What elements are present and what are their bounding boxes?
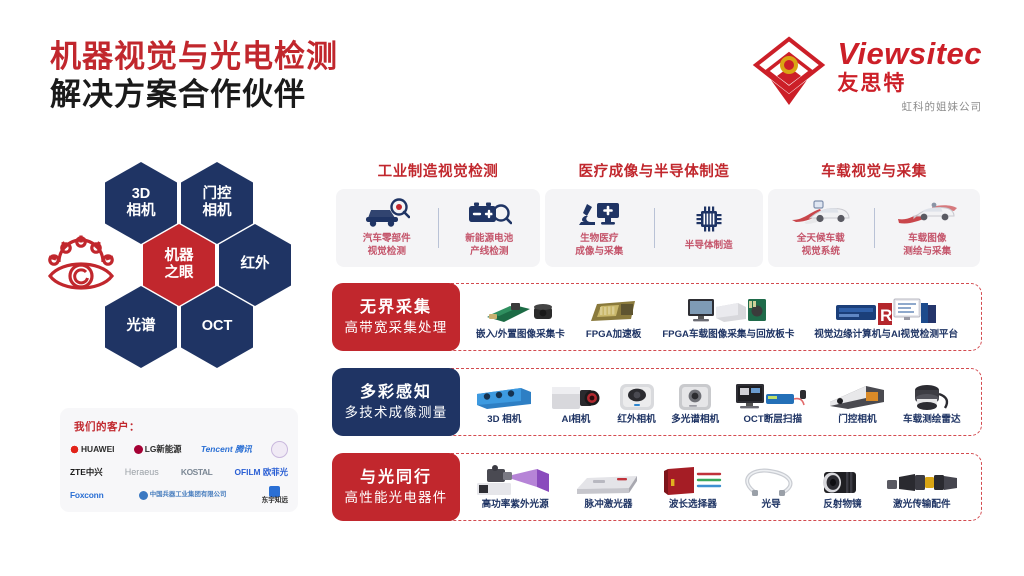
customer-logo-kostal: KOSTAL: [181, 468, 212, 476]
product-multispectral-camera[interactable]: 多光谱相机: [671, 379, 719, 425]
customer-label: OFILM 欧菲光: [234, 468, 288, 476]
customer-logo-ofilm: OFILM 欧菲光: [234, 468, 288, 476]
fpga-accelerator-board-image: [585, 294, 643, 327]
ai-camera-image: [550, 379, 602, 412]
category-automotive-card: 全天候车载 视觉系统 车载图像: [768, 189, 980, 267]
row-tag-subtitle: 高带宽采集处理: [345, 319, 448, 337]
row-tag-title: 多彩感知: [360, 383, 432, 403]
uv-light-source-image: [475, 464, 555, 497]
lg-mark-icon: [134, 445, 143, 454]
row-items: 高功率紫外光源 脉冲激光器: [466, 453, 968, 521]
customer-logo-huawei: HUAWEI: [70, 445, 115, 454]
product-fpga-accelerator[interactable]: FPGA加速板: [585, 294, 643, 340]
product-frame-grabber[interactable]: 嵌入/外置图像采集卡: [476, 294, 565, 340]
product-pulsed-laser[interactable]: 脉冲激光器: [573, 464, 643, 510]
product-ai-camera[interactable]: AI相机: [550, 379, 602, 425]
reflective-objective-image: [818, 464, 866, 497]
customer-logo-seal-icon: [271, 441, 288, 458]
hex-oct-label: OCT: [202, 318, 233, 335]
row-tag-subtitle: 多技术成像测量: [345, 404, 448, 422]
edge-ai-platform-image: R: [834, 294, 938, 327]
customer-label: Tencent 腾讯: [201, 445, 252, 453]
customer-logo-norinco: 中国兵器工业集团有限公司: [139, 491, 227, 500]
car-mapping-icon: [896, 197, 958, 228]
slide-root: 机器视觉与光电检测 解决方案合作伙伴 Viewsitec 友思特 虹科的姐妹公司: [0, 0, 1024, 576]
title-line-2: 解决方案合作伙伴: [50, 76, 338, 114]
product-label: OCT断层扫描: [743, 415, 802, 425]
product-uv-light-source[interactable]: 高功率紫外光源: [475, 464, 555, 510]
customer-row: Foxconn 中国兵器工业集团有限公司 东宇知远: [70, 484, 288, 507]
product-label: 波长选择器: [669, 500, 717, 510]
product-label: FPGA车载图像采集与回放板卡: [662, 330, 794, 340]
product-label: 红外相机: [617, 415, 655, 425]
customer-logo-tencent: Tencent 腾讯: [201, 445, 252, 453]
3d-camera-image: [473, 379, 535, 412]
category-automotive-title: 车载视觉与采集: [768, 160, 980, 181]
customer-logo-dongyu: 东宇知远: [262, 486, 288, 505]
category-automotive: 车载视觉与采集 全天候车载 视觉系统: [768, 160, 980, 267]
customer-label: HUAWEI: [81, 445, 115, 453]
category-item-label: 半导体制造: [685, 240, 733, 253]
category-medical-title: 医疗成像与半导体制造: [545, 160, 763, 181]
brand-logo: Viewsitec 友思特 虹科的姐妹公司: [751, 34, 982, 114]
infrared-camera-image: [617, 379, 657, 412]
product-label: 高功率紫外光源: [482, 500, 549, 510]
customer-label: LG新能源: [145, 445, 182, 453]
svg-text:R: R: [880, 306, 892, 325]
category-item-biomedical-imaging[interactable]: 生物医疗 成像与采集: [545, 197, 654, 259]
row-items: 3D 相机 AI相机: [466, 368, 968, 436]
product-wavelength-selector[interactable]: 波长选择器: [662, 464, 724, 510]
product-label: 激光传输配件: [893, 500, 951, 510]
automotive-lidar-image: [907, 379, 957, 412]
product-label: 车载测绘雷达: [903, 415, 961, 425]
row-items: 嵌入/外置图像采集卡 FPGA加速板: [466, 283, 968, 351]
category-item-label: 车载图像 测绘与采集: [903, 233, 951, 259]
customer-label: 中国兵器工业集团有限公司: [150, 492, 227, 498]
customer-logo-lg: LG新能源: [134, 445, 182, 454]
product-label: 3D 相机: [487, 415, 521, 425]
customer-label: 东宇知远: [262, 498, 288, 505]
hex-center-line2: 之眼: [165, 265, 194, 282]
customer-logo-foxconn: Foxconn: [70, 491, 104, 499]
light-guide-image: [742, 464, 800, 497]
product-edge-ai-platform[interactable]: R 视觉边缘计算机与AI视觉检测平台: [814, 294, 958, 340]
microscope-monitor-icon: [575, 197, 623, 228]
category-item-label: 新能源电池 产线检测: [465, 233, 513, 259]
category-item-car-inspection[interactable]: 汽车零部件 视觉检测: [336, 197, 438, 259]
row-tag-subtitle: 高性能光电器件: [345, 489, 448, 507]
category-item-allweather-vision[interactable]: 全天候车载 视觉系统: [768, 197, 874, 259]
product-row-acquisition: 无界采集 高带宽采集处理 嵌入/外置图像采集卡: [332, 283, 982, 351]
product-oct-scanner[interactable]: OCT断层扫描: [734, 379, 812, 425]
customer-logo-zte: ZTE中兴: [70, 468, 103, 476]
category-industrial: 工业制造视觉检测 汽车零部件: [336, 160, 540, 267]
huawei-mark-icon: [70, 445, 79, 454]
product-row-imaging: 多彩感知 多技术成像测量 3D 相机: [332, 368, 982, 436]
hex-center-line1: 机器: [165, 248, 194, 265]
brand-tagline: 虹科的姐妹公司: [837, 99, 982, 114]
title-line-1: 机器视觉与光电检测: [50, 38, 338, 76]
hex-3d-camera-line1: 3D: [132, 186, 151, 203]
product-label: 光导: [762, 500, 781, 510]
customer-label: Foxconn: [70, 491, 104, 499]
car-lidar-icon: [790, 197, 852, 228]
product-gated-camera[interactable]: 门控相机: [826, 379, 888, 425]
product-label: 脉冲激光器: [585, 500, 633, 510]
product-label: 反射物镜: [823, 500, 861, 510]
product-label: 视觉边缘计算机与AI视觉检测平台: [814, 330, 958, 340]
row-tag-acquisition[interactable]: 无界采集 高带宽采集处理: [332, 283, 460, 351]
customer-row: ZTE中兴 Heraeus KOSTAL OFILM 欧菲光: [70, 461, 288, 484]
multispectral-camera-image: [676, 379, 714, 412]
machine-eye-hex-diagram: 3D 相机 门控 相机 机器 之眼 红外 光谱 OCT: [48, 162, 310, 380]
brand-text: Viewsitec 友思特 虹科的姐妹公司: [837, 34, 982, 114]
viewsitec-diamond-icon: [751, 34, 827, 110]
product-label: 多光谱相机: [671, 415, 719, 425]
row-tag-title: 与光同行: [360, 468, 432, 488]
oct-scanner-image: [734, 379, 812, 412]
hex-3d-camera-line2: 相机: [127, 203, 156, 220]
row-tag-title: 无界采集: [360, 298, 432, 318]
battery-inspection-icon: [466, 197, 512, 228]
brand-name-cn: 友思特: [837, 71, 982, 96]
product-label: FPGA加速板: [586, 330, 641, 340]
customer-logo-heraeus: Heraeus: [125, 468, 159, 477]
laser-delivery-accessories-image: [885, 464, 959, 497]
category-item-battery-inspection[interactable]: 新能源电池 产线检测: [439, 197, 541, 259]
category-item-label: 汽车零部件 视觉检测: [363, 233, 411, 259]
gated-camera-image: [826, 379, 888, 412]
dongyu-mark-icon: [269, 486, 280, 497]
product-reflective-objective[interactable]: 反射物镜: [818, 464, 866, 510]
customer-label: Heraeus: [125, 468, 159, 477]
car-inspection-icon: [364, 197, 410, 228]
hex-infrared-label: 红外: [241, 256, 270, 273]
category-item-label: 生物医疗 成像与采集: [575, 233, 623, 259]
customer-row: HUAWEI LG新能源 Tencent 腾讯: [70, 438, 288, 461]
category-item-label: 全天候车载 视觉系统: [797, 233, 845, 259]
customers-card: 我们的客户： HUAWEI LG新能源 Tencent 腾讯 ZTE中兴: [60, 408, 298, 512]
category-medical-card: 生物医疗 成像与采集: [545, 189, 763, 267]
hex-spectrum-label: 光谱: [127, 318, 156, 335]
category-medical-semiconductor: 医疗成像与半导体制造: [545, 160, 763, 267]
fpga-automotive-board-image: [686, 294, 770, 327]
product-automotive-lidar[interactable]: 车载测绘雷达: [903, 379, 961, 425]
customer-logo-grid: HUAWEI LG新能源 Tencent 腾讯 ZTE中兴 Heraeus: [70, 438, 288, 507]
page-title: 机器视觉与光电检测 解决方案合作伙伴: [50, 38, 338, 114]
product-label: 嵌入/外置图像采集卡: [476, 330, 565, 340]
product-laser-delivery-accessories[interactable]: 激光传输配件: [885, 464, 959, 510]
eye-gear-icon: [46, 232, 116, 296]
product-light-guide[interactable]: 光导: [742, 464, 800, 510]
frame-grabber-card-image: [484, 294, 556, 327]
chip-icon: [692, 204, 726, 235]
hex-gated-camera-line1: 门控: [203, 186, 232, 203]
brand-name-en: Viewsitec: [837, 38, 982, 69]
category-industrial-title: 工业制造视觉检测: [336, 160, 540, 181]
product-infrared-camera[interactable]: 红外相机: [617, 379, 657, 425]
category-industrial-card: 汽车零部件 视觉检测: [336, 189, 540, 267]
product-row-photonics: 与光同行 高性能光电器件 高功率紫外光源: [332, 453, 982, 521]
product-label: 门控相机: [838, 415, 876, 425]
product-label: AI相机: [562, 415, 591, 425]
customers-title: 我们的客户：: [74, 419, 140, 434]
product-fpga-automotive[interactable]: FPGA车载图像采集与回放板卡: [662, 294, 794, 340]
customer-label: ZTE中兴: [70, 468, 103, 476]
customer-label: KOSTAL: [181, 468, 212, 476]
category-item-semiconductor[interactable]: 半导体制造: [655, 204, 764, 253]
row-tag-imaging[interactable]: 多彩感知 多技术成像测量: [332, 368, 460, 436]
pulsed-laser-image: [573, 464, 643, 497]
norinco-mark-icon: [139, 491, 148, 500]
hex-gated-camera-line2: 相机: [203, 203, 232, 220]
category-item-vehicle-mapping[interactable]: 车载图像 测绘与采集: [875, 197, 981, 259]
wavelength-selector-image: [662, 464, 724, 497]
row-tag-photonics[interactable]: 与光同行 高性能光电器件: [332, 453, 460, 521]
product-3d-camera[interactable]: 3D 相机: [473, 379, 535, 425]
